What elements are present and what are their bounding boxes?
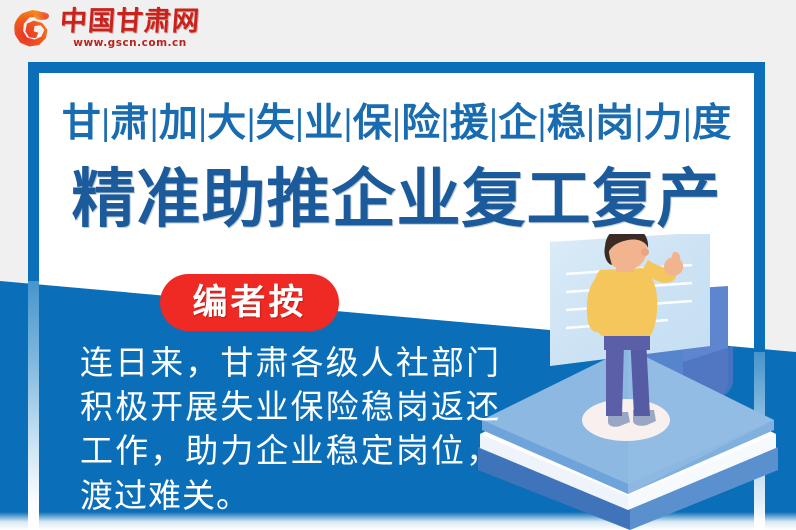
- kicker-char: 保: [353, 100, 392, 146]
- kicker-separator: |: [585, 103, 596, 143]
- kicker-title: 甘|肃|加|大|失|业|保|险|援|企|稳|岗|力|度: [39, 104, 754, 143]
- kicker-separator: |: [197, 103, 208, 143]
- logo-site-name: 中国甘肃网: [59, 8, 201, 35]
- kicker-char: 企: [498, 100, 537, 146]
- kicker-separator: |: [536, 103, 547, 143]
- kicker-char: 甘: [62, 100, 101, 146]
- kicker-char: 加: [159, 100, 198, 146]
- site-logo[interactable]: 中国甘肃网 www.gscn.com.cn: [12, 6, 200, 50]
- kicker-char: 肃: [110, 100, 149, 146]
- swirl-logo-icon: [12, 6, 56, 50]
- editor-note-badge-label: 编者按: [192, 285, 306, 320]
- illustration-person-on-book: [478, 234, 796, 530]
- kicker-separator: |: [391, 103, 402, 143]
- kicker-separator: |: [633, 103, 644, 143]
- kicker-separator: |: [682, 103, 693, 143]
- kicker-char: 大: [207, 100, 246, 146]
- kicker-separator: |: [342, 103, 353, 143]
- editor-note-body: 连日来，甘肃各级人社部门积极开展失业保险稳岗返还工作，助力企业稳定岗位，渡过难关…: [80, 341, 500, 518]
- kicker-separator: |: [488, 103, 499, 143]
- kicker-text: 甘|肃|加|大|失|业|保|险|援|企|稳|岗|力|度: [62, 100, 731, 146]
- frame-left-stripe-over-band: [28, 281, 39, 530]
- frame-right-upper: [754, 62, 765, 352]
- kicker-char: 稳: [547, 100, 586, 146]
- frame-top-border: [28, 62, 765, 73]
- kicker-separator: |: [245, 103, 256, 143]
- infographic-poster: 中国甘肃网 www.gscn.com.cn: [0, 0, 796, 530]
- logo-site-url: www.gscn.com.cn: [60, 38, 200, 49]
- page-title: 精准助推企业复工复产: [39, 166, 754, 233]
- kicker-separator: |: [439, 103, 450, 143]
- kicker-char: 力: [644, 100, 683, 146]
- kicker-separator: |: [100, 103, 111, 143]
- logo-text: 中国甘肃网 www.gscn.com.cn: [60, 8, 200, 49]
- kicker-separator: |: [148, 103, 159, 143]
- logo-bar: 中国甘肃网 www.gscn.com.cn: [0, 0, 796, 62]
- editor-note-badge: 编者按: [160, 274, 339, 331]
- kicker-separator: |: [294, 103, 305, 143]
- kicker-char: 度: [692, 100, 731, 146]
- kicker-char: 援: [450, 100, 489, 146]
- kicker-char: 岗: [595, 100, 634, 146]
- kicker-char: 失: [256, 100, 295, 146]
- kicker-char: 业: [304, 100, 343, 146]
- kicker-char: 险: [401, 100, 440, 146]
